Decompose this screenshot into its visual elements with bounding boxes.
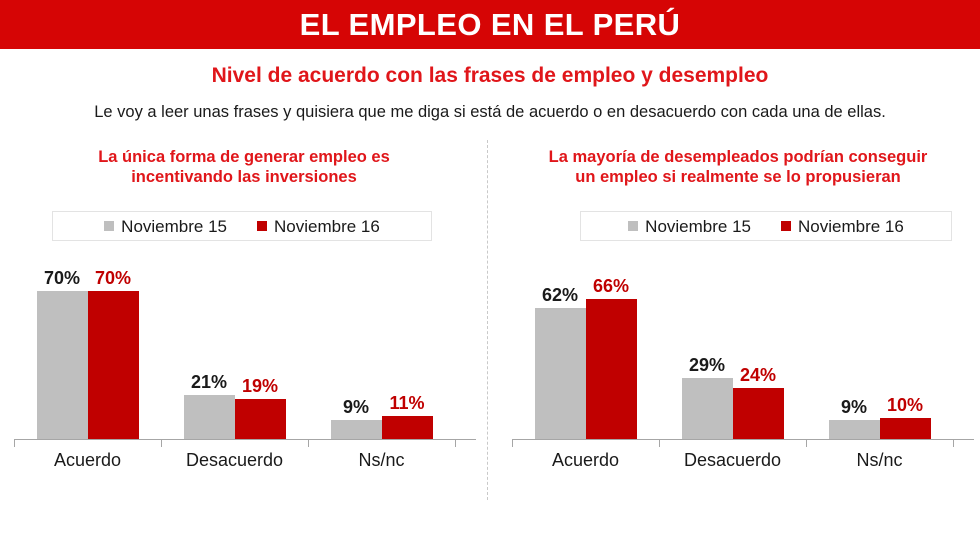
- axis-tick: [806, 440, 807, 447]
- legend-right: Noviembre 15 Noviembre 16: [580, 211, 952, 241]
- bar-nov15-acuerdo[interactable]: 62%: [535, 308, 586, 439]
- survey-question: Le voy a leer unas frases y quisiera que…: [0, 103, 980, 121]
- bar-value-nov16-acuerdo: 66%: [593, 277, 629, 295]
- legend-item-noviembre-15[interactable]: Noviembre 15: [104, 218, 227, 235]
- bar-value-nov16-nsnc: 11%: [389, 394, 424, 412]
- legend-swatch-gray-icon: [104, 221, 114, 231]
- bar-nov16-desacuerdo[interactable]: 24%: [733, 388, 784, 439]
- bar-value-nov15-desacuerdo: 29%: [689, 356, 725, 374]
- plot-area-right: 62% 66% Acuerdo 29% 24%: [512, 255, 974, 440]
- category-label-acuerdo: Acuerdo: [54, 451, 121, 469]
- header-banner: EL EMPLEO EN EL PERÚ: [0, 0, 980, 49]
- legend-label-noviembre-15: Noviembre 15: [121, 218, 227, 235]
- bar-nov15-desacuerdo[interactable]: 21%: [184, 395, 235, 439]
- chart-title-left-line1: La única forma de generar empleo es: [98, 148, 390, 166]
- legend-label-noviembre-15: Noviembre 15: [645, 218, 751, 235]
- bar-nov16-nsnc[interactable]: 11%: [382, 416, 433, 439]
- page-title: EL EMPLEO EN EL PERÚ: [300, 9, 681, 40]
- chart-panel-left: La única forma de generar empleo es ince…: [4, 140, 484, 500]
- axis-tick: [512, 440, 513, 447]
- bar-value-nov16-acuerdo: 70%: [95, 269, 131, 287]
- legend-left: Noviembre 15 Noviembre 16: [52, 211, 432, 241]
- x-axis-line: [512, 439, 974, 440]
- legend-item-noviembre-15[interactable]: Noviembre 15: [628, 218, 751, 235]
- axis-tick: [161, 440, 162, 447]
- axis-tick: [455, 440, 456, 447]
- chart-panel-right: La mayoría de desempleados podrían conse…: [498, 140, 978, 500]
- bar-value-nov15-acuerdo: 70%: [44, 269, 80, 287]
- chart-title-right-line1: La mayoría de desempleados podrían conse…: [549, 148, 928, 166]
- bar-group-desacuerdo: 29% 24% Desacuerdo: [659, 255, 806, 439]
- bar-value-nov16-desacuerdo: 19%: [242, 377, 278, 395]
- axis-tick: [308, 440, 309, 447]
- axis-tick: [659, 440, 660, 447]
- bar-nov16-acuerdo[interactable]: 66%: [586, 299, 637, 439]
- category-label-desacuerdo: Desacuerdo: [684, 451, 781, 469]
- bar-group-bars: 9% 10%: [806, 255, 953, 439]
- bar-value-nov16-desacuerdo: 24%: [740, 366, 776, 384]
- legend-swatch-red-icon: [781, 221, 791, 231]
- bar-group-nsnc: 9% 10% Ns/nc: [806, 255, 953, 439]
- bar-nov15-acuerdo[interactable]: 70%: [37, 291, 88, 439]
- bar-nov16-nsnc[interactable]: 10%: [880, 418, 931, 439]
- legend-item-noviembre-16[interactable]: Noviembre 16: [257, 218, 380, 235]
- legend-swatch-red-icon: [257, 221, 267, 231]
- bar-nov16-desacuerdo[interactable]: 19%: [235, 399, 286, 439]
- legend-swatch-gray-icon: [628, 221, 638, 231]
- bar-value-nov15-nsnc: 9%: [343, 398, 369, 416]
- chart-subtitle: Nivel de acuerdo con las frases de emple…: [0, 64, 980, 87]
- legend-item-noviembre-16[interactable]: Noviembre 16: [781, 218, 904, 235]
- bar-value-nov15-nsnc: 9%: [841, 398, 867, 416]
- legend-label-noviembre-16: Noviembre 16: [798, 218, 904, 235]
- axis-tick: [14, 440, 15, 447]
- bar-nov15-nsnc[interactable]: 9%: [331, 420, 382, 439]
- plot-area-left: 70% 70% Acuerdo 21% 19%: [14, 255, 476, 440]
- bar-nov15-desacuerdo[interactable]: 29%: [682, 378, 733, 439]
- bar-value-nov15-desacuerdo: 21%: [191, 373, 227, 391]
- bar-group-bars: 62% 66%: [512, 255, 659, 439]
- bar-value-nov15-acuerdo: 62%: [542, 286, 578, 304]
- category-label-desacuerdo: Desacuerdo: [186, 451, 283, 469]
- bar-group-desacuerdo: 21% 19% Desacuerdo: [161, 255, 308, 439]
- bar-group-acuerdo: 62% 66% Acuerdo: [512, 255, 659, 439]
- bar-value-nov16-nsnc: 10%: [887, 396, 923, 414]
- bar-group-bars: 70% 70%: [14, 255, 161, 439]
- bar-nov15-nsnc[interactable]: 9%: [829, 420, 880, 439]
- x-axis-line: [14, 439, 476, 440]
- axis-tick: [953, 440, 954, 447]
- bar-group-acuerdo: 70% 70% Acuerdo: [14, 255, 161, 439]
- chart-title-left-line2: incentivando las inversiones: [131, 168, 357, 186]
- category-label-nsnc: Ns/nc: [856, 451, 902, 469]
- bar-group-bars: 9% 11%: [308, 255, 455, 439]
- bar-group-bars: 21% 19%: [161, 255, 308, 439]
- infographic-page: EL EMPLEO EN EL PERÚ Nivel de acuerdo co…: [0, 0, 980, 547]
- chart-title-left: La única forma de generar empleo es ince…: [4, 147, 484, 188]
- bar-group-nsnc: 9% 11% Ns/nc: [308, 255, 455, 439]
- legend-label-noviembre-16: Noviembre 16: [274, 218, 380, 235]
- category-label-acuerdo: Acuerdo: [552, 451, 619, 469]
- bar-nov16-acuerdo[interactable]: 70%: [88, 291, 139, 439]
- category-label-nsnc: Ns/nc: [358, 451, 404, 469]
- chart-title-right: La mayoría de desempleados podrían conse…: [498, 147, 978, 188]
- bar-group-bars: 29% 24%: [659, 255, 806, 439]
- panel-divider: [487, 140, 488, 500]
- chart-title-right-line2: un empleo si realmente se lo propusieran: [575, 168, 901, 186]
